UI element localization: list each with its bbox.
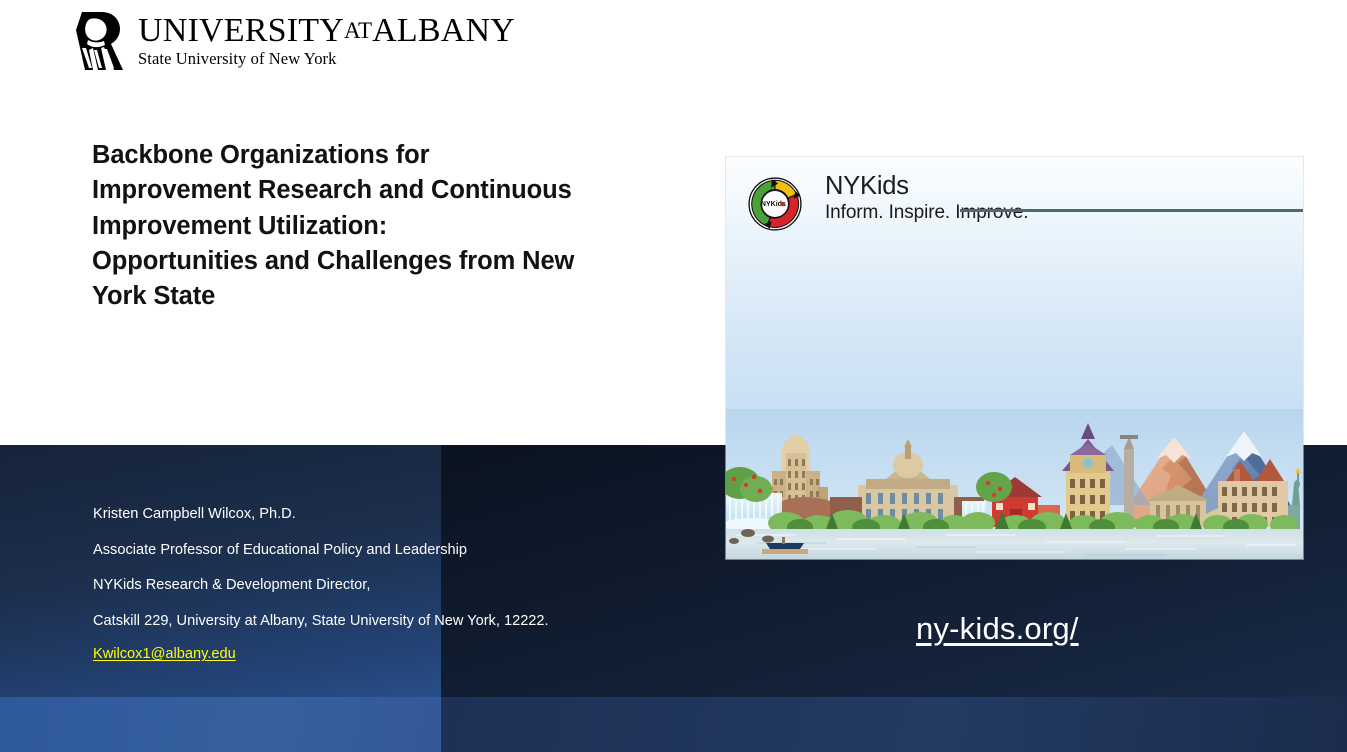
nykids-branding-card: NYKids NYKids Inform. Inspire. Improve.	[726, 157, 1303, 559]
university-name-part2: ALBANY	[372, 12, 515, 49]
presenter-details: Kristen Campbell Wilcox, Ph.D. Associate…	[93, 505, 638, 664]
page-title-line: Backbone Organizations for	[92, 138, 652, 173]
nykids-brand-name: NYKids	[825, 173, 1028, 200]
nykids-card-header: NYKids NYKids Inform. Inspire. Improve.	[748, 173, 1303, 247]
presenter-role: Associate Professor of Educational Polic…	[93, 541, 638, 560]
minerva-seal-icon	[76, 12, 128, 70]
university-logo-wordmark: UNIVERSITYATALBANY State University of N…	[138, 12, 515, 69]
footer-bottom-strip-right	[441, 697, 1347, 752]
university-subtitle: State University of New York	[138, 49, 515, 69]
presenter-name: Kristen Campbell Wilcox, Ph.D.	[93, 505, 638, 524]
website-url-link[interactable]: ny-kids.org/	[916, 611, 1079, 647]
slide-canvas: UNIVERSITYATALBANY State University of N…	[0, 0, 1347, 752]
university-name: UNIVERSITYATALBANY	[138, 14, 515, 47]
university-logo: UNIVERSITYATALBANY State University of N…	[76, 12, 515, 70]
page-title-line: Opportunities and Challenges from New	[92, 244, 652, 279]
university-name-at: AT	[344, 18, 372, 43]
footer-bottom-strip-left	[0, 697, 441, 752]
university-name-part1: UNIVERSITY	[138, 12, 344, 49]
new-york-landmarks-illustration	[726, 409, 1303, 559]
nykids-wordmark: NYKids Inform. Inspire. Improve.	[825, 173, 1028, 225]
page-title-line: Improvement Utilization:	[92, 209, 652, 244]
presenter-email-link[interactable]: Kwilcox1@albany.edu	[93, 646, 236, 662]
nykids-header-rule	[960, 209, 1303, 212]
nykids-cycle-icon: NYKids	[748, 177, 802, 231]
nykids-tagline: Inform. Inspire. Improve.	[825, 201, 1028, 226]
page-title-line: Improvement Research and Continuous	[92, 173, 652, 208]
page-title: Backbone Organizations for Improvement R…	[92, 138, 652, 315]
page-title-line: York State	[92, 279, 652, 314]
presenter-affiliation: NYKids Research & Development Director,	[93, 576, 638, 595]
presenter-email-link-wrap: Kwilcox1@albany.edu	[93, 645, 638, 664]
presenter-address: Catskill 229, University at Albany, Stat…	[93, 612, 638, 631]
